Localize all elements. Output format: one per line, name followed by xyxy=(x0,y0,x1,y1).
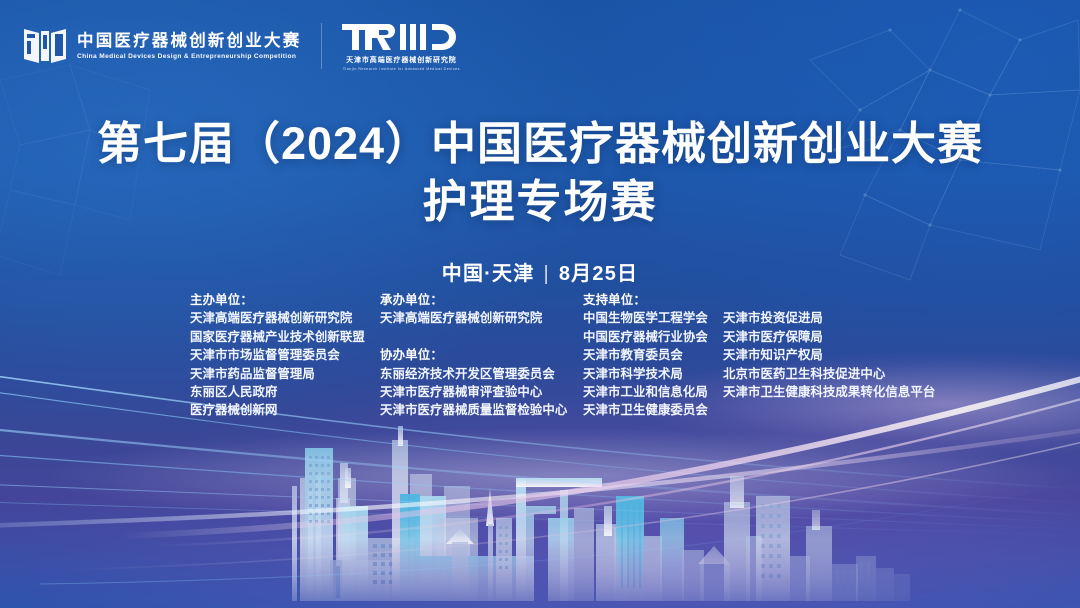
supporter-item: 北京市医药卫生科技促进中心 xyxy=(723,365,933,383)
host-item: 东丽区人民政府 xyxy=(190,383,362,401)
host-item: 天津市市场监督管理委员会 xyxy=(190,346,362,364)
supporter-item: 天津市卫生健康委员会 xyxy=(583,401,713,419)
organizers-block: 主办单位： 天津高端医疗器械创新研究院 国家医疗器械产业技术创新联盟 天津市市场… xyxy=(190,291,951,420)
supporters-column: 支持单位： 中国生物医学工程学会 中国医疗器械行业协会 天津市教育委员会 天津市… xyxy=(583,291,933,420)
supporters-subcolumn-left: 支持单位： 中国生物医学工程学会 中国医疗器械行业协会 天津市教育委员会 天津市… xyxy=(583,291,713,420)
supporter-item: 天津市医疗保障局 xyxy=(723,328,933,346)
undertaker-column: 承办单位： 天津高端医疗器械创新研究院 协办单位： 东丽经济技术开发区管理委员会… xyxy=(380,291,565,420)
host-column: 主办单位： 天津高端医疗器械创新研究院 国家医疗器械产业技术创新联盟 天津市市场… xyxy=(190,291,362,420)
supporters-heading: 支持单位： xyxy=(583,291,713,309)
competition-logo: 中国医疗器械创新创业大赛 China Medical Devices Desig… xyxy=(22,25,301,67)
supporter-item: 天津市知识产权局 xyxy=(723,346,933,364)
competition-logo-cn: 中国医疗器械创新创业大赛 xyxy=(77,32,301,50)
institute-logo-cn: 天津市高端医疗器械创新研究院 xyxy=(346,55,457,65)
poster-canvas: 中国医疗器械创新创业大赛 China Medical Devices Desig… xyxy=(0,0,1080,608)
supporter-item: 中国医疗器械行业协会 xyxy=(583,328,713,346)
trimd-wordmark-icon xyxy=(342,22,460,52)
host-item: 天津高端医疗器械创新研究院 xyxy=(190,309,362,327)
undertaker-heading: 承办单位： xyxy=(380,291,565,309)
supporter-item: 中国生物医学工程学会 xyxy=(583,309,713,327)
supporter-item: 天津市卫生健康科技成果转化信息平台 xyxy=(723,383,933,401)
supporter-item: 天津市投资促进局 xyxy=(723,309,933,327)
competition-logo-en: China Medical Devices Design & Entrepren… xyxy=(77,53,301,60)
coorganizer-item: 天津市医疗器械审评查验中心 xyxy=(380,383,565,401)
event-date: 8月25日 xyxy=(559,263,638,285)
host-heading: 主办单位： xyxy=(190,291,362,309)
supporter-item: 天津市教育委员会 xyxy=(583,346,713,364)
event-subtitle: 中国·天津|8月25日 xyxy=(0,257,1080,286)
header-logos: 中国医疗器械创新创业大赛 China Medical Devices Desig… xyxy=(22,22,460,71)
supporter-item: 天津市工业和信息化局 xyxy=(583,383,713,401)
institute-logo-en: Tianjin Research Institute for Advanced … xyxy=(343,67,460,71)
logo-divider xyxy=(321,23,322,69)
open-book-mark-icon xyxy=(22,25,68,67)
column-spacer xyxy=(380,328,565,346)
poster-title: 第七届（2024）中国医疗器械创新创业大赛 护理专场赛 xyxy=(0,116,1080,230)
institute-logo: 天津市高端医疗器械创新研究院 Tianjin Research Institut… xyxy=(342,22,460,71)
supporters-subcolumn-right: 支持单位： 天津市投资促进局 天津市医疗保障局 天津市知识产权局 北京市医药卫生… xyxy=(723,291,933,420)
host-item: 国家医疗器械产业技术创新联盟 xyxy=(190,328,362,346)
title-line-1: 第七届（2024）中国医疗器械创新创业大赛 xyxy=(0,116,1080,172)
host-item: 医疗器械创新网 xyxy=(190,401,362,419)
coorganizer-heading: 协办单位： xyxy=(380,346,565,364)
undertaker-item: 天津高端医疗器械创新研究院 xyxy=(380,309,565,327)
host-item: 天津市药品监督管理局 xyxy=(190,365,362,383)
supporter-item: 天津市科学技术局 xyxy=(583,365,713,383)
title-line-2: 护理专场赛 xyxy=(0,174,1080,230)
coorganizer-item: 天津市医疗器械质量监督检验中心 xyxy=(380,401,565,419)
coorganizer-item: 东丽经济技术开发区管理委员会 xyxy=(380,365,565,383)
event-location: 中国·天津 xyxy=(442,263,535,285)
subtitle-separator: | xyxy=(534,263,558,286)
